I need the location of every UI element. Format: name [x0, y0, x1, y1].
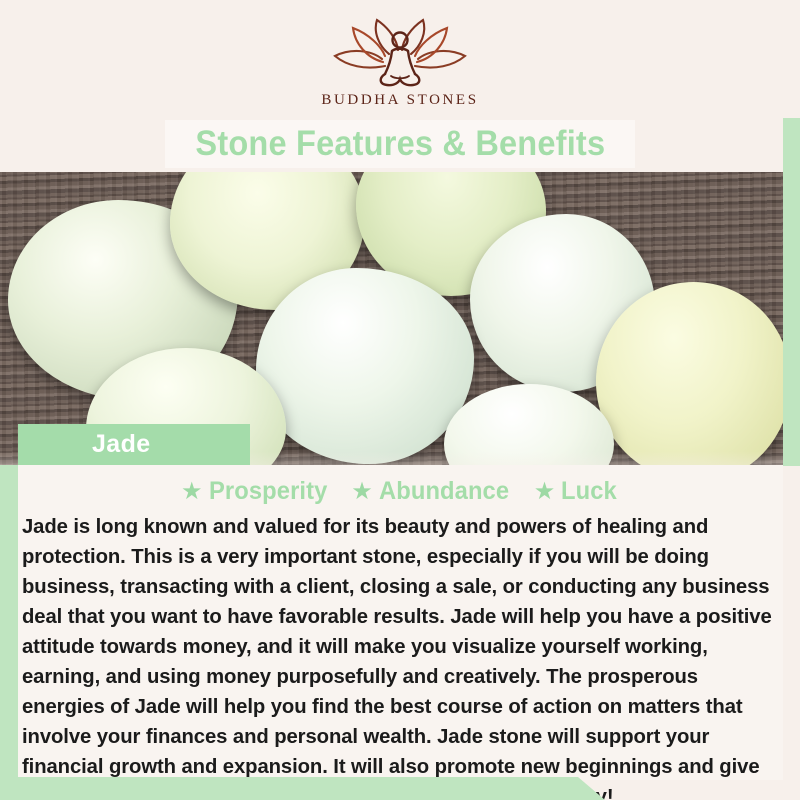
benefit-item: ★ Luck: [534, 477, 620, 506]
stone-name: Jade: [92, 430, 151, 459]
benefit-item: ★ Abundance: [351, 477, 516, 506]
benefit-item: ★ Prosperity: [181, 477, 333, 506]
star-icon: ★: [351, 480, 373, 504]
brand-header: BUDDHA STONES: [0, 0, 800, 118]
decorative-band-bottom: [0, 777, 605, 800]
lotus-meditation-icon: [325, 18, 475, 88]
brand-name: BUDDHA STONES: [0, 92, 800, 109]
page-title: Stone Features & Benefits: [195, 124, 605, 164]
content-panel: ★ Prosperity ★ Abundance ★ Luck Jade is …: [18, 465, 783, 780]
benefit-label: Prosperity: [209, 477, 327, 506]
infographic-card: BUDDHA STONES Stone Features & Benefits …: [0, 0, 800, 800]
stone-name-band: Jade: [18, 424, 250, 465]
stone-photo: [0, 172, 783, 465]
star-icon: ★: [534, 480, 556, 504]
brand-logo: BUDDHA STONES: [0, 18, 800, 109]
title-banner: Stone Features & Benefits: [165, 120, 635, 168]
benefit-label: Luck: [561, 477, 617, 506]
benefits-row: ★ Prosperity ★ Abundance ★ Luck: [18, 465, 783, 506]
benefit-label: Abundance: [379, 477, 509, 506]
star-icon: ★: [181, 480, 203, 504]
stone-description: Jade is long known and valued for its be…: [22, 512, 773, 800]
